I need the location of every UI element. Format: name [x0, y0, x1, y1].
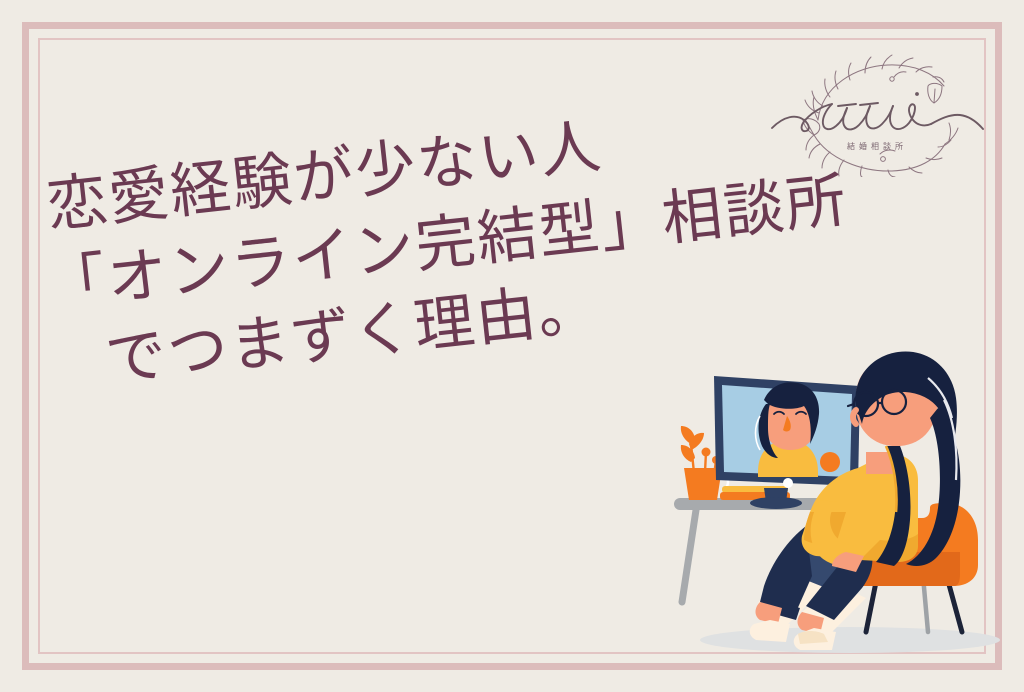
header-banner: 恋愛経験が少ない人 「オンライン完結型」相談所 でつまずく理由。	[0, 0, 1024, 692]
brand-logo: 結婚相談所	[770, 42, 985, 177]
page-title: 恋愛経験が少ない人 「オンライン完結型」相談所 でつまずく理由。	[33, 102, 675, 407]
logo-wordmark-script	[772, 92, 983, 131]
floor-shadow	[700, 627, 1000, 653]
hero-illustration	[660, 340, 1020, 660]
logo-subtitle: 結婚相談所	[847, 141, 907, 151]
